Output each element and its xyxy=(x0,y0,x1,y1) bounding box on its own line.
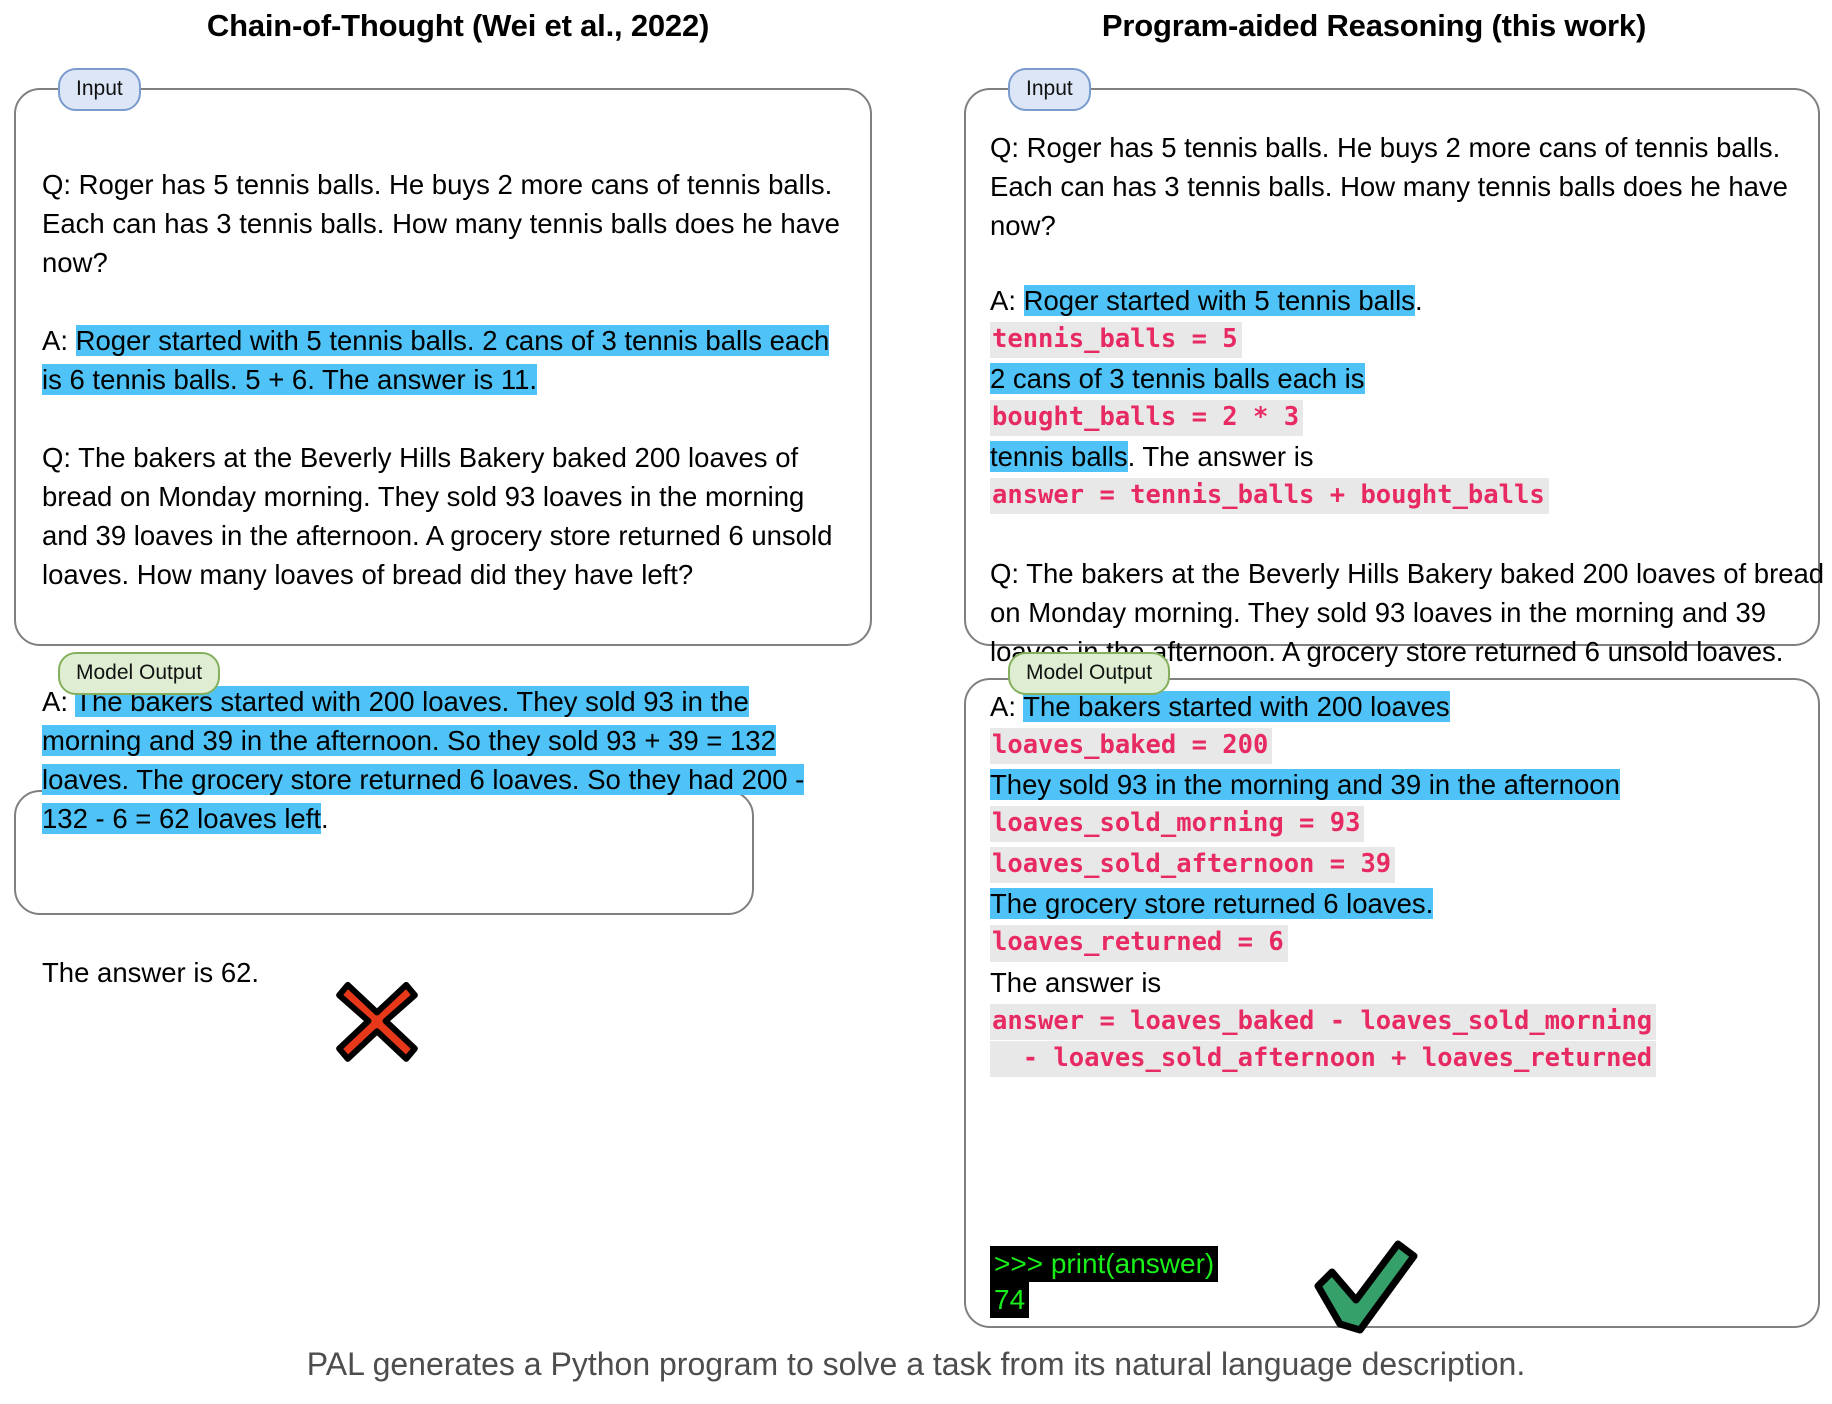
left-output-final-answer: The answer is 62. xyxy=(42,953,842,992)
output-line-2: They sold 93 in the morning and 39 in th… xyxy=(990,768,1820,801)
left-output-badge: Model Output xyxy=(58,652,220,695)
output-line-4: The answer is xyxy=(990,966,1820,999)
cross-icon xyxy=(334,978,420,1069)
answer-highlight: Roger started with 5 tennis balls. 2 can… xyxy=(42,325,829,395)
terminal-block: >>> print(answer) 74 xyxy=(990,1246,1218,1318)
code-line-1: tennis_balls = 5 xyxy=(990,321,1810,358)
code-loaves-baked: loaves_baked = 200 xyxy=(990,728,1272,764)
output-code-line-1: loaves_baked = 200 xyxy=(990,727,1820,764)
answer-tail-3: . The answer is xyxy=(1128,441,1314,472)
figure-root: Chain-of-Thought (Wei et al., 2022) Prog… xyxy=(0,0,1832,1404)
code-loaves-sold-afternoon: loaves_sold_afternoon = 39 xyxy=(990,847,1395,883)
code-answer-expression-part1: answer = loaves_baked - loaves_sold_morn… xyxy=(990,1004,1656,1040)
output-code-line-4: loaves_returned = 6 xyxy=(990,924,1820,961)
answer-tail: . xyxy=(321,803,329,834)
check-icon xyxy=(1310,1238,1420,1343)
answer-line-3: tennis balls. The answer is xyxy=(990,440,1810,473)
output-line-3: The grocery store returned 6 loaves. xyxy=(990,887,1820,920)
terminal-prompt-line: >>> print(answer) xyxy=(990,1246,1218,1282)
code-answer-expression-part2: - loaves_sold_afternoon + loaves_returne… xyxy=(990,1041,1656,1077)
left-column-title: Chain-of-Thought (Wei et al., 2022) xyxy=(0,8,916,44)
code-loaves-sold-morning: loaves_sold_morning = 93 xyxy=(990,806,1364,842)
code-bought-balls: bought_balls = 2 * 3 xyxy=(990,400,1303,436)
right-input-badge: Input xyxy=(1008,68,1091,111)
answer-highlight: The bakers started with 200 loaves. They… xyxy=(42,686,804,834)
code-line-2: bought_balls = 2 * 3 xyxy=(990,399,1810,436)
answer-tail-1: . xyxy=(1415,285,1423,316)
output-code-line-5a: answer = loaves_baked - loaves_sold_morn… xyxy=(990,1003,1820,1040)
terminal-result-line: 74 xyxy=(990,1282,1029,1318)
right-input-question-1: Q: Roger has 5 tennis balls. He buys 2 m… xyxy=(990,128,1800,245)
right-input-answer-block: A: Roger started with 5 tennis balls. te… xyxy=(990,284,1810,514)
answer-line-2: 2 cans of 3 tennis balls each is xyxy=(990,362,1810,395)
output-code-line-2: loaves_sold_morning = 93 xyxy=(990,805,1820,842)
code-answer-expression: answer = tennis_balls + bought_balls xyxy=(990,478,1549,514)
left-input-badge: Input xyxy=(58,68,141,111)
output-highlight-3: The grocery store returned 6 loaves. xyxy=(990,888,1433,919)
output-highlight-1: The bakers started with 200 loaves xyxy=(1023,691,1449,722)
left-input-answer-1: A: Roger started with 5 tennis balls. 2 … xyxy=(42,321,842,399)
output-code-line-3: loaves_sold_afternoon = 39 xyxy=(990,846,1820,883)
answer-line-1: A: Roger started with 5 tennis balls. xyxy=(990,284,1810,317)
figure-caption: PAL generates a Python program to solve … xyxy=(0,1346,1832,1383)
right-column-title: Program-aided Reasoning (this work) xyxy=(916,8,1832,44)
left-input-text: Q: Roger has 5 tennis balls. He buys 2 m… xyxy=(42,165,842,595)
right-input-text: Q: Roger has 5 tennis balls. He buys 2 m… xyxy=(990,128,1800,245)
right-output-badge: Model Output xyxy=(1008,652,1170,695)
output-highlight-2: They sold 93 in the morning and 39 in th… xyxy=(990,769,1620,800)
answer-highlight-1: Roger started with 5 tennis balls xyxy=(1024,285,1415,316)
left-input-question-2: Q: The bakers at the Beverly Hills Baker… xyxy=(42,438,842,594)
answer-highlight-3: tennis balls xyxy=(990,441,1128,472)
code-tennis-balls: tennis_balls = 5 xyxy=(990,322,1242,358)
left-input-question-1: Q: Roger has 5 tennis balls. He buys 2 m… xyxy=(42,165,842,282)
left-output-answer: A: The bakers started with 200 loaves. T… xyxy=(42,682,842,838)
answer-prefix: A: xyxy=(990,285,1024,316)
code-loaves-returned: loaves_returned = 6 xyxy=(990,925,1288,961)
right-output-block: A: The bakers started with 200 loaves lo… xyxy=(990,690,1820,1077)
answer-highlight-2: 2 cans of 3 tennis balls each is xyxy=(990,363,1365,394)
output-code-line-5b: - loaves_sold_afternoon + loaves_returne… xyxy=(990,1040,1820,1077)
answer-prefix: A: xyxy=(42,325,76,356)
left-output-text: A: The bakers started with 200 loaves. T… xyxy=(42,682,842,838)
code-line-3: answer = tennis_balls + bought_balls xyxy=(990,477,1810,514)
answer-prefix: A: xyxy=(990,691,1023,722)
